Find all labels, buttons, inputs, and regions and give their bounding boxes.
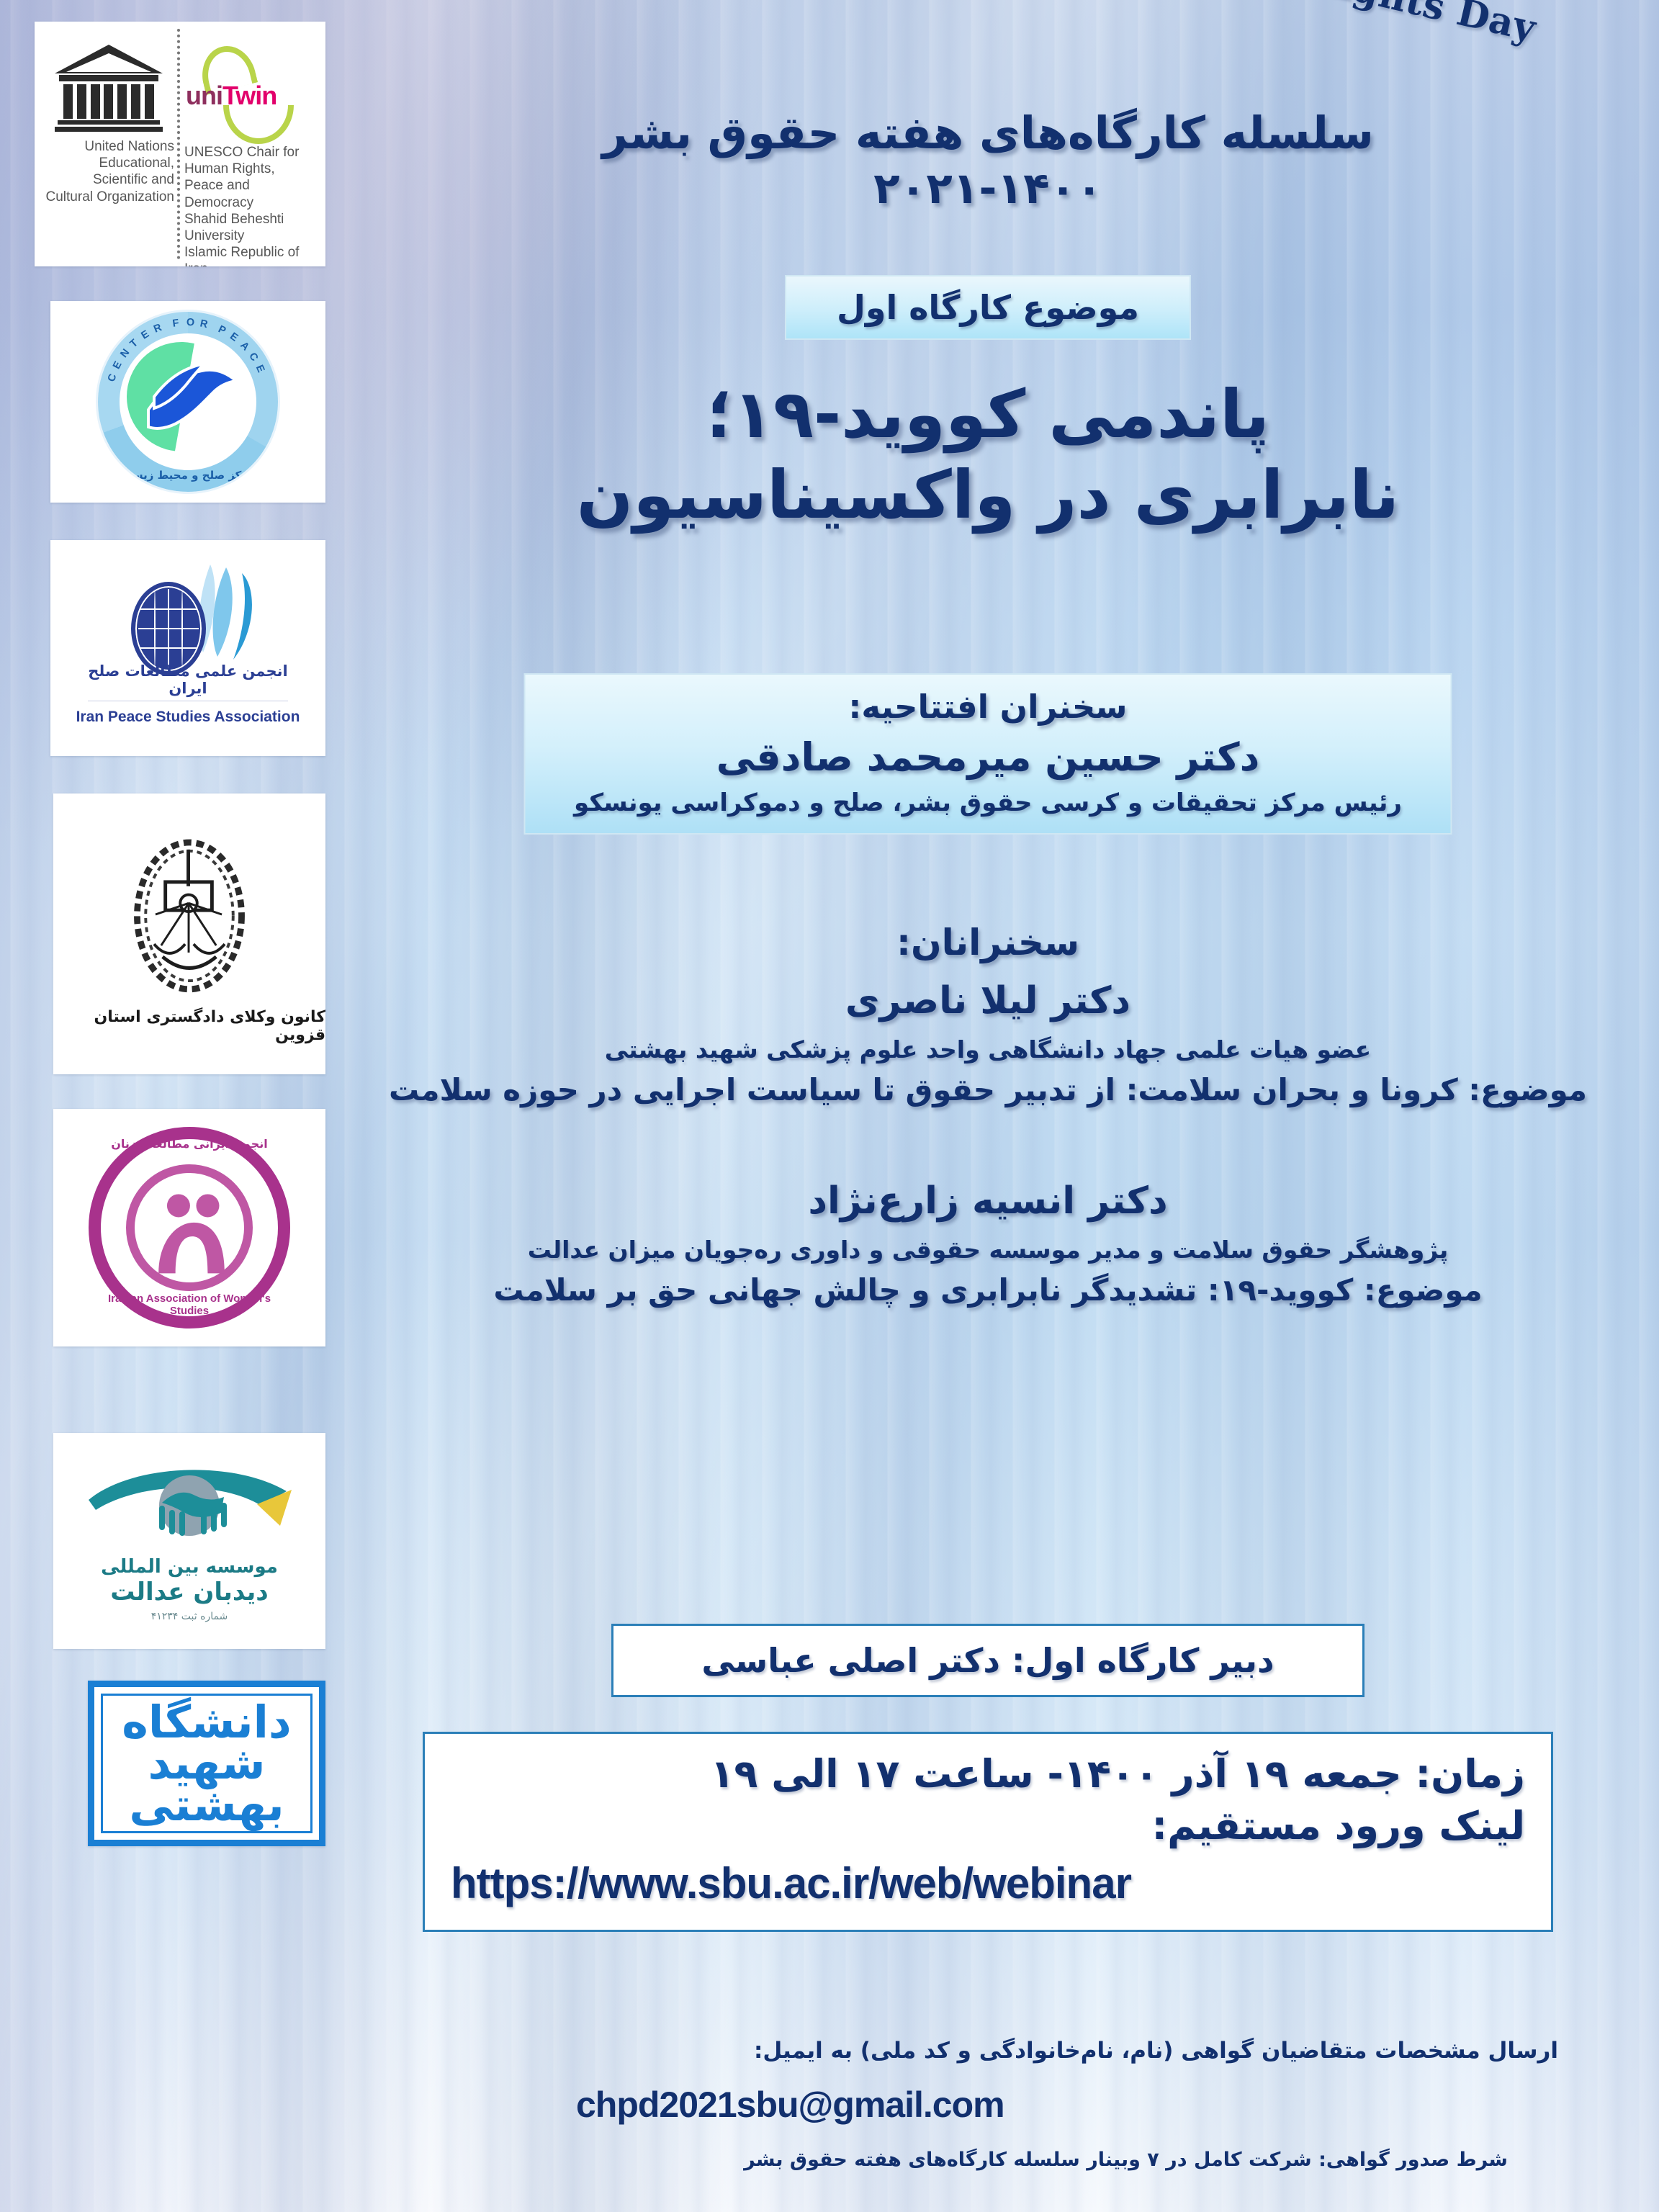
jwo-fa-line1: موسسه بین المللی <box>101 1556 278 1578</box>
footer-certificate-instruction: ارسال مشخصات متقاضیان گواهی (نام، نام‌خا… <box>338 2038 1637 2064</box>
speaker-block-2: دکتر انسیه زارع‌نژاد پژوهشگر حقوق سلامت … <box>338 1179 1637 1310</box>
footer-certificate-condition: شرط صدور گواهی: شرکت کامل در ۷ وبینار سل… <box>338 2149 1637 2171</box>
logo-shahid-beheshti-university: دانشگاه شهید بهشتی <box>88 1681 325 1846</box>
title-line-2: نابرابری در واکسیناسیون <box>338 455 1637 536</box>
speaker-2-topic: موضوع: کووید-۱۹: تشدیدگر نابرابری و چالش… <box>338 1271 1637 1310</box>
workshop-secretary-label: دبیر کارگاه اول: دکتر اصلی عباسی <box>701 1641 1274 1680</box>
poster-canvas: United Nations Educational, Scientific a… <box>0 0 1659 2212</box>
unitwin-logo-icon: uniTwin <box>184 45 298 140</box>
series-header: سلسله کارگاه‌های هفته حقوق بشر ۲۰۲۱-۱۴۰۰ <box>338 107 1637 214</box>
poster-footer: ارسال مشخصات متقاضیان گواهی (نام، نام‌خا… <box>338 2038 1637 2171</box>
cpe-fa-label: مرکز صلح و محیط زیست <box>98 469 278 482</box>
jwo-fa-line3: شماره ثبت ۴۱۲۳۴ <box>151 1611 228 1622</box>
iaws-en-label: Iranian Association of Women's Studies <box>89 1292 290 1317</box>
webinar-link[interactable]: https://www.sbu.ac.ir/web/webinar <box>451 1858 1525 1908</box>
opening-speaker-name: دکتر حسین میرمحمد صادقی <box>526 734 1451 780</box>
speaker-1-name: دکتر لیلا ناصری <box>338 979 1637 1022</box>
scales-wreath-icon <box>119 824 260 1004</box>
logo-womens-studies: انجمن ایرانی مطالعات زنان Iranian Associ… <box>53 1109 325 1346</box>
logo-iran-peace-studies: انجمن علمی مطالعات صلح ایران Iran Peace … <box>50 540 325 756</box>
speaker-block-1: دکتر لیلا ناصری عضو هیات علمی جهاد دانشگ… <box>338 979 1637 1110</box>
unesco-chair-text: UNESCO Chair for Human Rights, Peace and… <box>184 144 315 266</box>
bar-fa-label: کانون وکلای دادگستری استان قزوین <box>53 1008 325 1044</box>
sponsor-logo-rail: United Nations Educational, Scientific a… <box>37 22 325 1846</box>
iaws-fa-label: انجمن ایرانی مطالعات زنان <box>89 1137 290 1151</box>
schedule-box: زمان: جمعه ۱۹ آذر ۱۴۰۰- ساعت ۱۷ الی ۱۹ ل… <box>423 1732 1553 1932</box>
logo-qazvin-bar-association: کانون وکلای دادگستری استان قزوین <box>53 793 325 1074</box>
main-content: International Human Rights Day 2021 سلسل… <box>338 0 1637 2212</box>
ipsa-fa-label: انجمن علمی مطالعات صلح ایران <box>69 662 307 697</box>
eye-globe-hands-icon <box>81 1460 297 1553</box>
opening-speaker-label: سخنران افتتاحیه: <box>526 688 1451 726</box>
jwo-fa-line2: دیدبان عدالت <box>110 1578 269 1606</box>
workshop-secretary-box: دبیر کارگاه اول: دکتر اصلی عباسی <box>611 1624 1364 1697</box>
title-line-1: پاندمی کووید-۱۹؛ <box>338 374 1637 455</box>
poster-main-title: پاندمی کووید-۱۹؛ نابرابری در واکسیناسیون <box>338 374 1637 536</box>
logo-center-peace-environment: C E N T E R F O R P E A C E مرکز صلح و م… <box>50 301 325 503</box>
schedule-time: زمان: جمعه ۱۹ آذر ۱۴۰۰- ساعت ۱۷ الی ۱۹ <box>451 1750 1525 1799</box>
workshop-topic-label: موضوع کارگاه اول <box>837 288 1139 327</box>
logo-justice-watch-institute: موسسه بین المللی دیدبان عدالت شماره ثبت … <box>53 1433 325 1649</box>
globe-icon <box>131 582 206 675</box>
logo-unesco-unitwin: United Nations Educational, Scientific a… <box>35 22 325 266</box>
speakers-heading: سخنرانان: <box>338 922 1637 963</box>
workshop-topic-bar: موضوع کارگاه اول <box>785 275 1191 340</box>
ipsa-en-label: Iran Peace Studies Association <box>69 709 307 726</box>
speaker-2-affiliation: پژوهشگر حقوق سلامت و مدیر موسسه حقوقی و … <box>338 1236 1637 1264</box>
unesco-temple-icon <box>55 45 163 131</box>
schedule-link-label: لینک ورود مستقیم: <box>451 1803 1525 1848</box>
speaker-1-topic: موضوع: کرونا و بحران سلامت: از تدبیر حقو… <box>338 1071 1637 1110</box>
international-human-rights-day-banner: International Human Rights Day 2021 <box>839 0 1540 96</box>
peace-dove-globe-icon: C E N T E R F O R P E A C E مرکز صلح و م… <box>96 310 280 494</box>
unesco-subtitle: United Nations Educational, Scientific a… <box>43 138 174 205</box>
two-figures-icon <box>145 1189 237 1281</box>
speaker-2-name: دکتر انسیه زارع‌نژاد <box>338 1179 1637 1223</box>
speaker-1-affiliation: عضو هیات علمی جهاد دانشگاهی واحد علوم پز… <box>338 1035 1637 1064</box>
divider-dotted <box>177 29 180 259</box>
contact-email[interactable]: chpd2021sbu@gmail.com <box>338 2084 1637 2126</box>
series-title: سلسله کارگاه‌های هفته حقوق بشر <box>338 107 1637 159</box>
speakers-section: سخنرانان: دکتر لیلا ناصری عضو هیات علمی … <box>338 922 1637 1310</box>
opening-speaker-affiliation: رئیس مرکز تحقیقات و کرسی حقوق بشر، صلح و… <box>526 788 1451 817</box>
series-years: ۲۰۲۱-۱۴۰۰ <box>338 163 1637 214</box>
cpe-arc-text: C E N T E R F O R P E A C E <box>98 312 278 492</box>
opening-speaker-box: سخنران افتتاحیه: دکتر حسین میرمحمد صادقی… <box>524 673 1452 835</box>
